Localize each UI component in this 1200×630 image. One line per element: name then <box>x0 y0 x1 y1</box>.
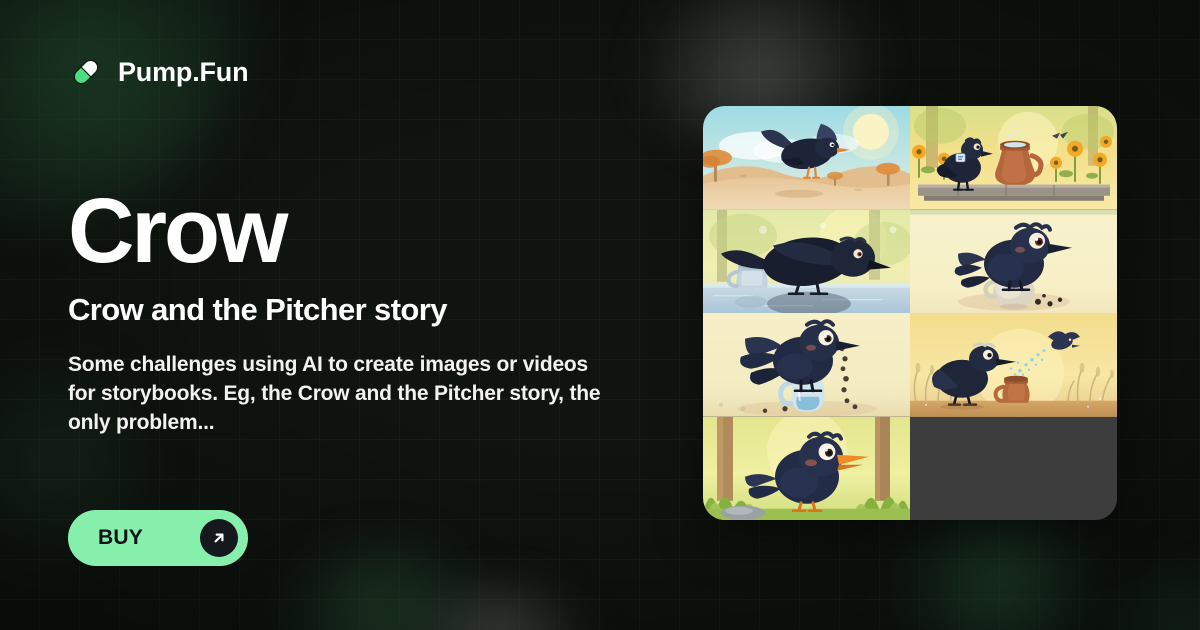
pill-icon <box>68 54 104 90</box>
brand-name: Pump.Fun <box>118 59 248 86</box>
tile-crow-at-waters-edge-with-jug[interactable] <box>703 210 910 314</box>
tile-crow-beside-pitcher-at-sunset[interactable] <box>910 313 1117 417</box>
hero-copy: Crow Crow and the Pitcher story Some cha… <box>68 186 628 437</box>
tile-crow-dropping-pebbles-into-jug[interactable] <box>703 313 910 417</box>
tile-empty-placeholder[interactable] <box>910 417 1117 521</box>
page-title: Crow <box>68 186 628 276</box>
buy-button-label: BUY <box>98 526 143 550</box>
arrow-up-right-icon <box>200 519 238 557</box>
social-preview-card: Pump.Fun Crow Crow and the Pitcher story… <box>0 0 1200 630</box>
brand[interactable]: Pump.Fun <box>68 54 248 90</box>
tile-crow-perched-on-round-jug[interactable] <box>910 210 1117 314</box>
page-description: Some challenges using AI to create image… <box>68 350 604 438</box>
tile-crow-in-grass-calling[interactable] <box>703 417 910 521</box>
page-subtitle: Crow and the Pitcher story <box>68 292 628 328</box>
preview-image-grid[interactable] <box>703 106 1117 520</box>
tile-crow-on-ledge-with-pitcher[interactable] <box>910 106 1117 210</box>
tile-crow-flying-over-desert[interactable] <box>703 106 910 210</box>
buy-button[interactable]: BUY <box>68 510 248 566</box>
